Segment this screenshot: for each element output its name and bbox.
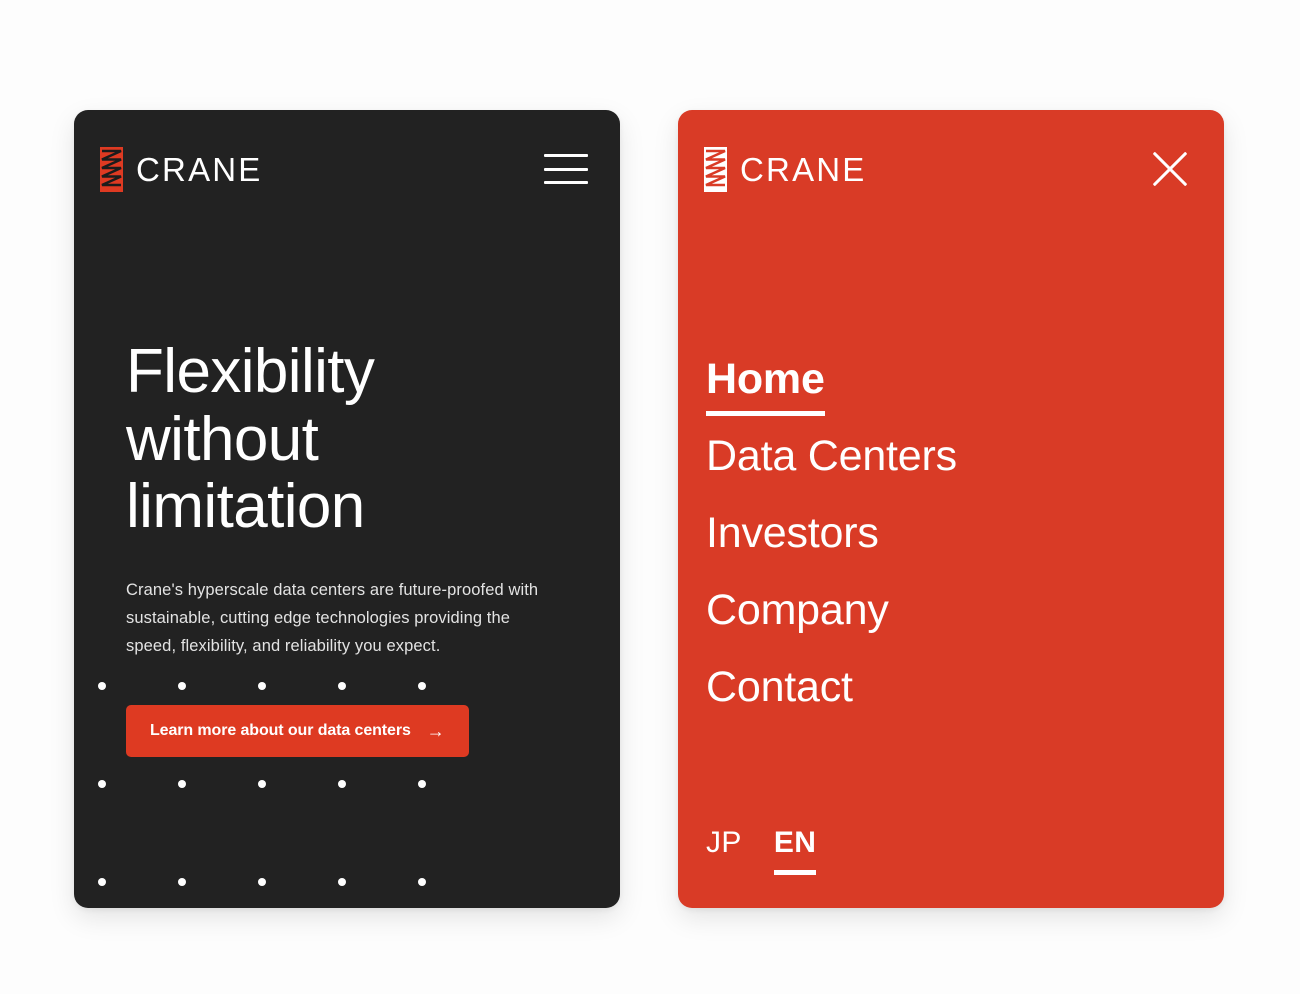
hamburger-line [544, 154, 588, 157]
grid-dot [338, 682, 346, 690]
grid-dot [178, 878, 186, 886]
grid-dot [338, 878, 346, 886]
crane-zigzag-logo-icon [100, 147, 123, 192]
hero-paragraph: Crane's hyperscale data centers are futu… [126, 576, 558, 661]
page-title: Flexibility without limitation [126, 338, 580, 541]
grid-dot [418, 780, 426, 788]
grid-dot [258, 780, 266, 788]
grid-dot [258, 682, 266, 690]
nav-item-contact[interactable]: Contact [706, 666, 853, 709]
hero-panel: CRANE Flexibility without limitation Cra… [74, 110, 620, 908]
grid-dot [98, 682, 106, 690]
grid-dot [338, 780, 346, 788]
main-navigation: Home Data Centers Investors Company Cont… [706, 358, 1196, 743]
grid-dot [418, 878, 426, 886]
grid-dot [98, 780, 106, 788]
brand-lockup[interactable]: CRANE [704, 147, 867, 192]
grid-dot [178, 780, 186, 788]
mockup-stage: CRANE Flexibility without limitation Cra… [0, 0, 1300, 994]
close-x-icon[interactable] [1148, 147, 1192, 191]
nav-item-home[interactable]: Home [706, 358, 825, 416]
grid-dot [178, 682, 186, 690]
hamburger-line [544, 181, 588, 184]
nav-item-investors[interactable]: Investors [706, 512, 879, 555]
language-switcher: JP EN [706, 828, 816, 875]
language-option-en[interactable]: EN [774, 828, 816, 875]
hamburger-menu-icon[interactable] [544, 154, 588, 184]
hamburger-line [544, 168, 588, 171]
brand-lockup[interactable]: CRANE [100, 147, 263, 192]
nav-item-company[interactable]: Company [706, 589, 889, 632]
menu-topbar: CRANE [678, 110, 1224, 228]
grid-dot [258, 878, 266, 886]
crane-zigzag-logo-icon [704, 147, 727, 192]
nav-item-data-centers[interactable]: Data Centers [706, 435, 957, 478]
brand-name: CRANE [136, 153, 263, 186]
hero-topbar: CRANE [74, 110, 620, 228]
brand-name: CRANE [740, 153, 867, 186]
menu-panel: CRANE Home Data Centers Investors Compan… [678, 110, 1224, 908]
decorative-dot-grid [98, 682, 498, 886]
grid-dot [98, 878, 106, 886]
language-option-jp[interactable]: JP [706, 828, 742, 858]
grid-dot [418, 682, 426, 690]
